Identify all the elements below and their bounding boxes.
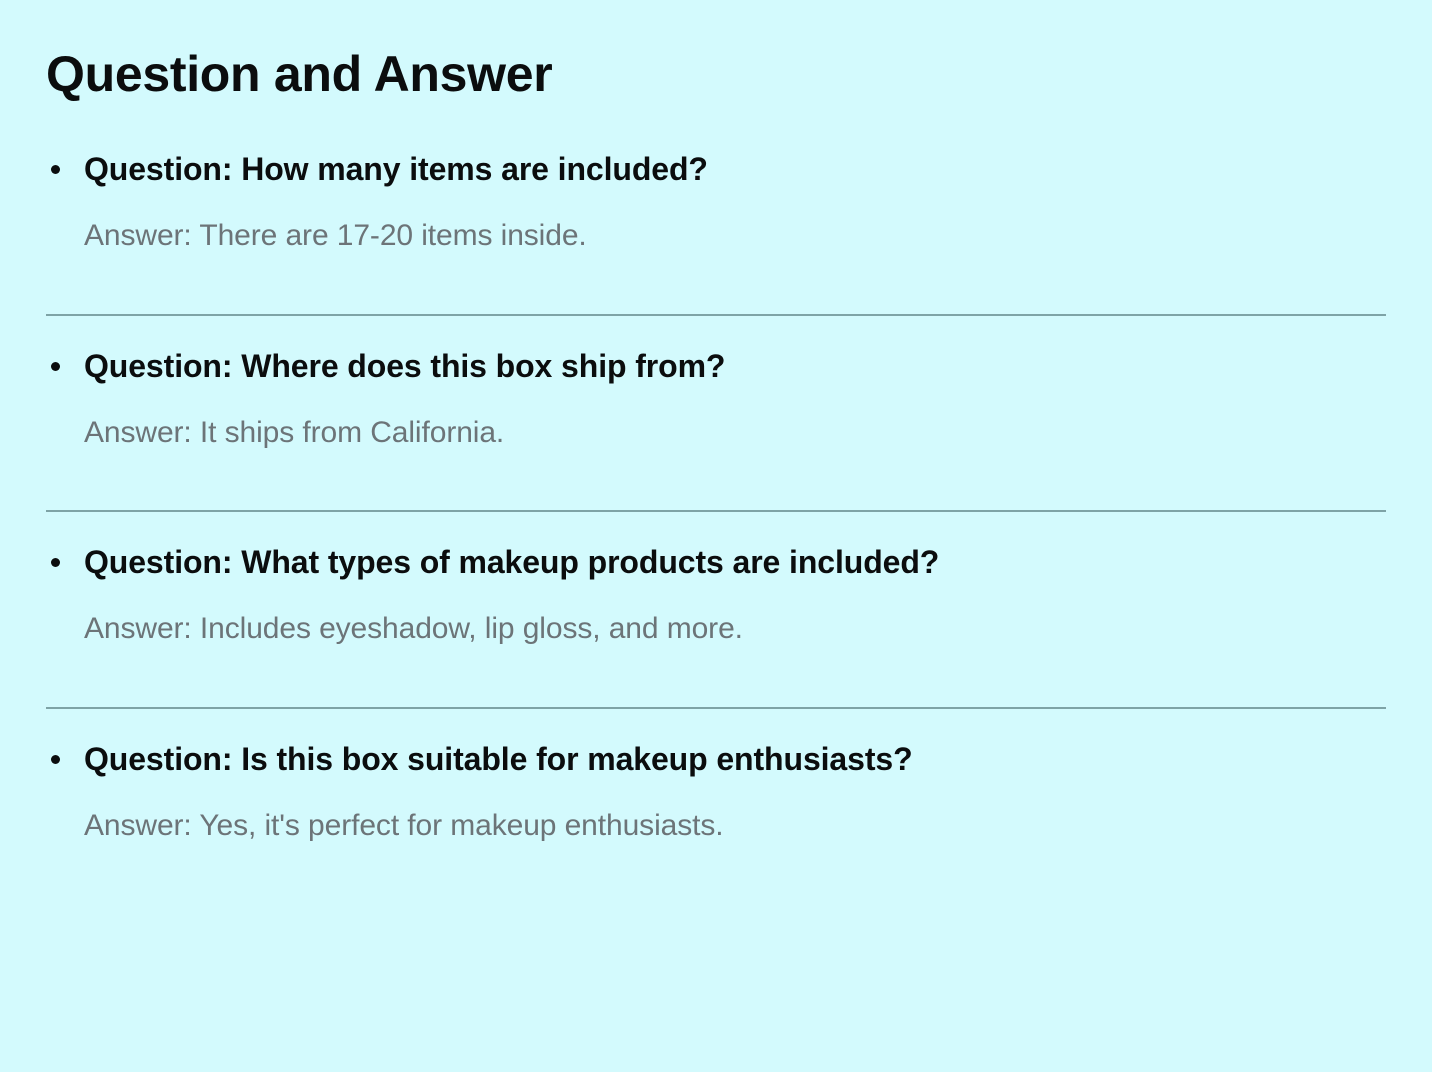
- qa-answer: Answer: It ships from California.: [46, 386, 1386, 480]
- qa-question-text: Question: What types of makeup products …: [84, 544, 939, 580]
- page-title: Question and Answer: [46, 0, 1386, 105]
- list-item: Question: How many items are included? A…: [46, 149, 1386, 283]
- bullet-dot-icon: [51, 362, 60, 371]
- qa-answer: Answer: Includes eyeshadow, lip gloss, a…: [46, 582, 1386, 676]
- qa-question-text: Question: How many items are included?: [84, 151, 708, 187]
- qa-question-text: Question: Is this box suitable for makeu…: [84, 741, 913, 777]
- qa-page: Question and Answer Question: How many i…: [0, 0, 1432, 1072]
- list-item: Question: What types of makeup products …: [46, 510, 1386, 676]
- bullet-dot-icon: [51, 165, 60, 174]
- list-item: Question: Where does this box ship from?…: [46, 314, 1386, 480]
- qa-question: Question: How many items are included?: [46, 149, 1386, 189]
- qa-answer: Answer: Yes, it's perfect for makeup ent…: [46, 779, 1386, 873]
- bullet-dot-icon: [51, 755, 60, 764]
- bullet-dot-icon: [51, 558, 60, 567]
- qa-list: Question: How many items are included? A…: [46, 105, 1386, 872]
- qa-question: Question: What types of makeup products …: [46, 542, 1386, 582]
- qa-question-text: Question: Where does this box ship from?: [84, 348, 725, 384]
- qa-question: Question: Is this box suitable for makeu…: [46, 739, 1386, 779]
- qa-question: Question: Where does this box ship from?: [46, 346, 1386, 386]
- qa-answer: Answer: There are 17-20 items inside.: [46, 189, 1386, 283]
- list-item: Question: Is this box suitable for makeu…: [46, 707, 1386, 873]
